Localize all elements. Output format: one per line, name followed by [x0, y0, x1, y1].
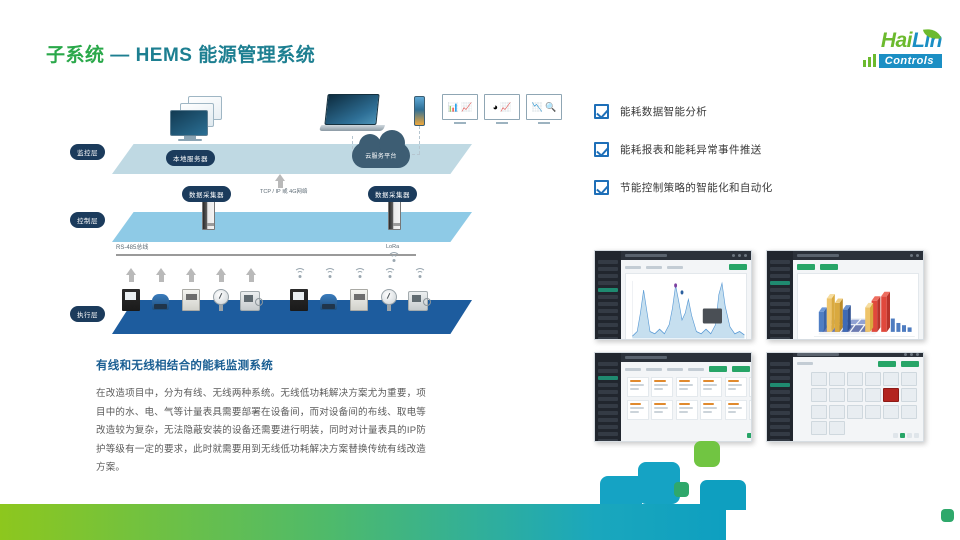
- node-label-local-server: 本地服务器: [166, 150, 215, 166]
- list-item[interactable]: [811, 405, 827, 419]
- screenshot-toolbar: [625, 366, 752, 372]
- list-item[interactable]: [627, 377, 649, 397]
- meter-water-icon: [320, 294, 337, 310]
- screenshot-main: [793, 353, 923, 441]
- node-label-collector-left: 数据采集器: [182, 186, 231, 202]
- logo-subbar: Controls: [830, 53, 942, 68]
- list-item[interactable]: [811, 421, 827, 435]
- uplink-label: TCP / IP 或 4G网络: [260, 187, 307, 195]
- decor-square-cyan-small: [600, 476, 642, 504]
- decor-square-green-light: [694, 441, 720, 467]
- list-item[interactable]: [829, 405, 845, 419]
- node-label-cloud-platform: 云服务平台: [352, 142, 410, 168]
- system-architecture-diagram: 监控层 控制层 执行层 本地服务器 📊 📈 ◕ 📈 📉 🔍 云服务平台 TCP …: [70, 82, 530, 342]
- list-item[interactable]: [811, 388, 827, 402]
- list-item[interactable]: [651, 377, 673, 397]
- meter-electric-icon: [290, 289, 308, 311]
- screenshot-energy-trend-dashboard[interactable]: [594, 250, 752, 340]
- list-item[interactable]: [901, 405, 917, 419]
- layer-slab-control: [112, 212, 472, 242]
- caption-body: 在改造项目中，分为有线、无线两种系统。无线低功耗解决方案尤为重要，项目中的水、电…: [96, 385, 426, 478]
- line-chart-icon: 📈: [461, 103, 472, 112]
- list-item[interactable]: [811, 372, 827, 386]
- page-title-prefix: 子系统: [46, 45, 105, 66]
- wireless-wifi-icon: [354, 268, 366, 278]
- list-item[interactable]: [676, 400, 698, 420]
- list-item[interactable]: [627, 400, 649, 420]
- feature-checklist: 能耗数据智能分析 能耗报表和能耗异常事件推送 节能控制策略的智能化和自动化: [594, 104, 894, 218]
- screenshot-titlebar: [793, 251, 923, 260]
- bus-label: RS-485总线: [116, 242, 148, 251]
- wired-arrow-icon: [246, 268, 256, 275]
- layer-label-monitoring: 监控层: [70, 144, 105, 160]
- footer-gradient-bar: [0, 504, 726, 540]
- list-item[interactable]: [700, 377, 722, 397]
- lora-wifi-icon: [388, 252, 400, 262]
- logo-sub-text: Controls: [879, 54, 942, 68]
- list-item[interactable]: [725, 400, 747, 420]
- screenshot-toolbar: [797, 361, 919, 367]
- list-item[interactable]: [700, 400, 722, 420]
- list-item[interactable]: [829, 421, 845, 435]
- bar-chart-icon: 📊: [448, 103, 459, 112]
- area-chart-icon: [626, 274, 746, 340]
- screenshot-body: [621, 260, 751, 339]
- check-box-icon: [594, 104, 609, 119]
- list-item[interactable]: [725, 377, 747, 397]
- local-server-icon: [170, 96, 232, 144]
- wireless-wifi-icon: [384, 268, 396, 278]
- wireless-wifi-icon: [414, 268, 426, 278]
- meter-gas-icon: [182, 289, 200, 311]
- list-item[interactable]: [651, 400, 673, 420]
- list-item[interactable]: [847, 405, 863, 419]
- checklist-item-2-label: 能耗报表和能耗异常事件推送: [620, 142, 762, 157]
- wired-arrow-icon: [186, 268, 196, 275]
- page-title-main: — HEMS 能源管理系统: [110, 45, 315, 66]
- device-card-grid: [625, 375, 752, 422]
- wireless-wifi-icon: [324, 268, 336, 278]
- brand-logo: HaiLin Controls: [830, 30, 942, 74]
- trend-icon: 📈: [500, 103, 511, 112]
- monitor-search-icon: 📉 🔍: [526, 94, 562, 120]
- screenshot-sidebar: [595, 353, 621, 441]
- bar-chart-3d-icon: [798, 274, 918, 340]
- layer-label-control: 控制层: [70, 212, 105, 228]
- meter-water-icon: [152, 294, 169, 310]
- pagination[interactable]: [747, 433, 752, 438]
- screenshot-toolbar: [797, 264, 919, 270]
- search-icon: 🔍: [545, 103, 556, 112]
- screenshot-body: [793, 260, 923, 339]
- list-item[interactable]: [749, 400, 752, 420]
- screenshot-body: [793, 357, 923, 442]
- wired-arrow-icon: [126, 268, 136, 275]
- list-item[interactable]: [901, 388, 917, 402]
- uplink-arrow-icon: [275, 174, 285, 181]
- smartphone-icon: [414, 96, 425, 126]
- pie-chart-icon: ◕: [493, 103, 498, 112]
- check-box-icon: [594, 180, 609, 195]
- cloud-platform-icon: 云服务平台: [352, 142, 410, 168]
- node-label-collector-right: 数据采集器: [368, 186, 417, 202]
- checklist-item-1-label: 能耗数据智能分析: [620, 104, 707, 119]
- footer-notch: [700, 480, 746, 510]
- meter-electric-icon: [122, 289, 140, 311]
- screenshot-body: [621, 362, 752, 441]
- list-item[interactable]: [847, 388, 863, 402]
- screenshot-sidebar: [595, 251, 621, 339]
- meter-pressure-gauge-icon: [381, 289, 397, 310]
- caption-heading: 有线和无线相结合的能耗监测系统: [96, 357, 273, 373]
- data-collector-right-icon: [388, 200, 401, 230]
- data-collector-left-icon: [202, 200, 215, 230]
- screenshot-energy-comparison-3d-bar[interactable]: [766, 250, 924, 340]
- meter-valve-icon: [240, 291, 260, 311]
- screenshot-sidebar: [767, 353, 793, 441]
- decor-square-green-dark: [674, 482, 689, 497]
- checklist-item-2[interactable]: 能耗报表和能耗异常事件推送: [594, 142, 894, 157]
- meter-valve-icon: [408, 291, 428, 311]
- area-chart-icon: 📉: [532, 103, 543, 112]
- screenshot-device-status-grid[interactable]: [766, 352, 924, 442]
- decor-square-green-corner: [941, 509, 954, 522]
- pagination[interactable]: [893, 433, 919, 438]
- meter-gas-icon: [350, 289, 368, 311]
- screenshot-device-card-list[interactable]: [594, 352, 752, 442]
- screenshot-toolbar: [625, 264, 747, 270]
- list-item[interactable]: [901, 372, 917, 386]
- layer-label-execution: 执行层: [70, 306, 105, 322]
- logo-word-hai: Hai: [881, 29, 912, 52]
- screenshot-main: [793, 251, 923, 339]
- checklist-item-3[interactable]: 节能控制策略的智能化和自动化: [594, 180, 894, 195]
- area-chart-card: [625, 273, 747, 340]
- screenshot-titlebar: [621, 251, 751, 260]
- list-item[interactable]: [865, 405, 881, 419]
- list-item-alarm[interactable]: [883, 388, 899, 402]
- laptop-icon: [320, 94, 384, 136]
- screenshot-main: [621, 353, 752, 441]
- logo-wordmark: HaiLin: [830, 30, 942, 51]
- bars-icon: [863, 54, 876, 67]
- list-item[interactable]: [829, 372, 845, 386]
- screenshot-gallery: [594, 250, 924, 442]
- wired-arrow-icon: [216, 268, 226, 275]
- screenshot-main: [621, 251, 751, 339]
- list-item[interactable]: [865, 388, 881, 402]
- checklist-item-1[interactable]: 能耗数据智能分析: [594, 104, 894, 119]
- list-item[interactable]: [883, 405, 899, 419]
- page-title: 子系统 — HEMS 能源管理系统: [46, 40, 315, 67]
- screenshot-sidebar: [767, 251, 793, 339]
- list-item[interactable]: [749, 377, 752, 397]
- rs485-bus-line: [116, 254, 416, 256]
- wireless-wifi-icon: [294, 268, 306, 278]
- connector-phone-cloud: [419, 126, 420, 154]
- checklist-item-3-label: 节能控制策略的智能化和自动化: [620, 180, 773, 195]
- wired-arrow-icon: [156, 268, 166, 275]
- lora-label: LoRa: [386, 244, 399, 250]
- monitor-pie-chart-icon: ◕ 📈: [484, 94, 520, 120]
- screenshot-titlebar: [621, 353, 752, 362]
- list-item[interactable]: [883, 372, 899, 386]
- device-status-tile-grid: [797, 370, 919, 438]
- list-item[interactable]: [865, 372, 881, 386]
- bar3d-chart-card: [797, 273, 919, 340]
- list-item[interactable]: [847, 372, 863, 386]
- list-item[interactable]: [829, 388, 845, 402]
- meter-pressure-gauge-icon: [213, 289, 229, 310]
- monitor-bar-chart-icon: 📊 📈: [442, 94, 478, 120]
- check-box-icon: [594, 142, 609, 157]
- list-item[interactable]: [676, 377, 698, 397]
